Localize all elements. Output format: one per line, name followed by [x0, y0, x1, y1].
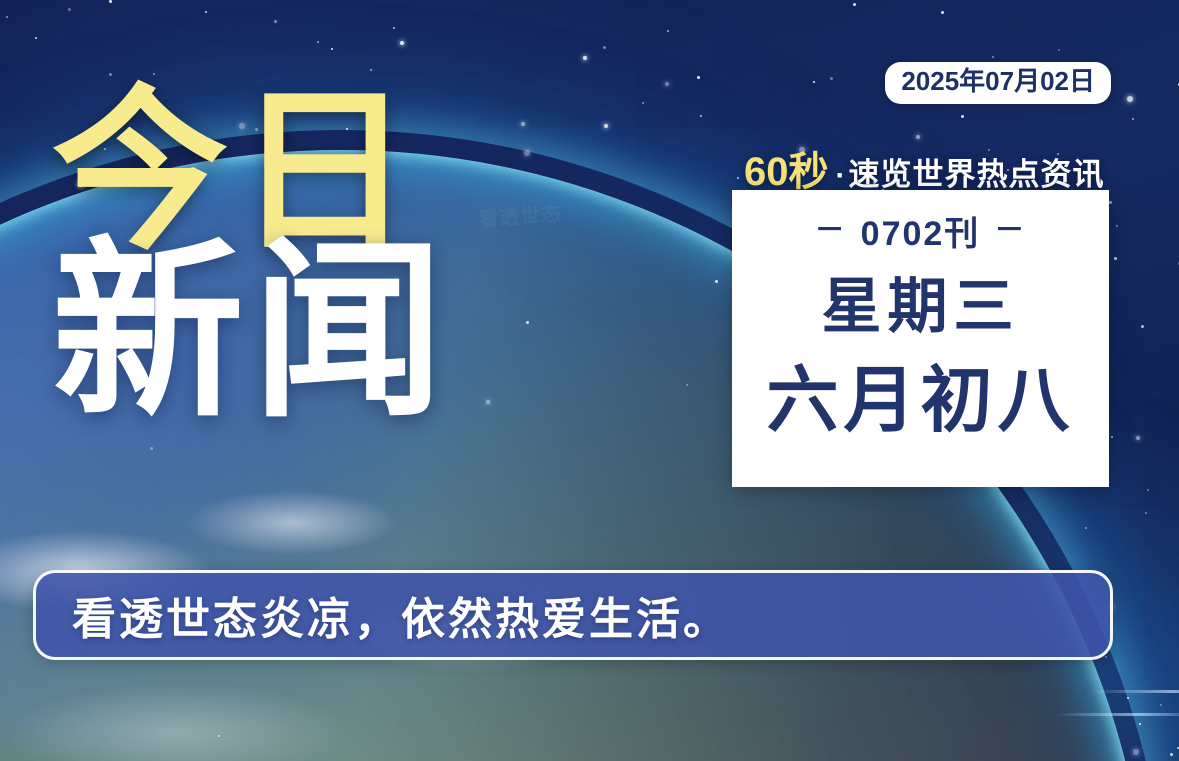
- tagline-text: 速览世界热点资讯: [849, 149, 1105, 194]
- issue-dash-right: －: [994, 216, 1026, 246]
- issue-row: － 0702刊 －: [815, 206, 1027, 255]
- issue-number: 0702刊: [861, 206, 981, 255]
- headline-line-2: 新闻: [52, 241, 692, 425]
- tagline-seconds: 60秒: [744, 139, 829, 197]
- tagline-separator: ·: [836, 159, 846, 193]
- tagline: 60秒 · 速览世界热点资讯: [744, 139, 1105, 197]
- weekday-label: 星期三: [822, 269, 1020, 344]
- news-poster: 看透世态 今日 新闻 2025年07月02日 60秒 · 速览世界热点资讯 － …: [0, 0, 1179, 761]
- info-card: － 0702刊 － 星期三 六月初八: [732, 190, 1109, 487]
- issue-dash-left: －: [815, 216, 847, 246]
- quote-banner: 看透世态炎凉，依然热爱生活。: [33, 570, 1113, 660]
- page-title: 今日 新闻: [52, 88, 692, 425]
- lunar-date-label: 六月初八: [766, 358, 1074, 444]
- quote-text: 看透世态炎凉，依然热爱生活。: [36, 583, 730, 647]
- date-badge: 2025年07月02日: [885, 62, 1111, 104]
